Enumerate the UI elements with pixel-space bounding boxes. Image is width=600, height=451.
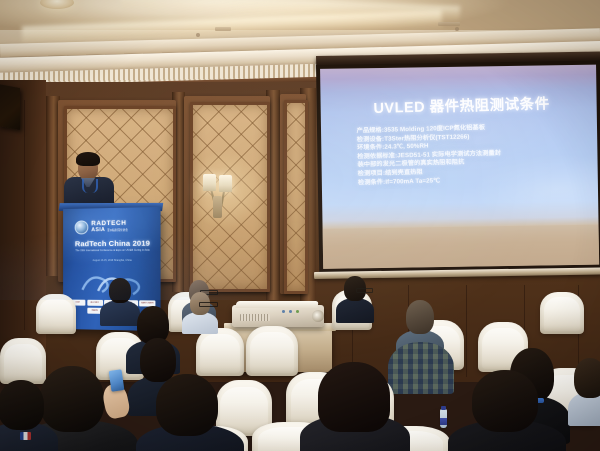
- sprinkler-icon: [455, 27, 459, 31]
- person-head: [0, 380, 44, 430]
- audience-person: [182, 292, 218, 332]
- audience-person-foreground: [448, 370, 566, 451]
- person-head: [156, 374, 218, 436]
- audience-person: [0, 380, 58, 451]
- person-shoulders: [336, 298, 374, 323]
- pa-speaker-icon: [0, 84, 20, 130]
- chair-inner: [39, 299, 73, 332]
- presenter-hair: [76, 152, 100, 166]
- water-bottle: [440, 409, 447, 428]
- person-head: [574, 358, 600, 398]
- screen-surface: UVLED 器件热阻测试条件 产品规格:3535 Molding 120度ICP…: [320, 65, 599, 269]
- quilted-fabric-panel: [190, 102, 270, 292]
- bottle-cap: [441, 406, 446, 410]
- sunglasses-icon: [199, 302, 218, 307]
- audience-person-foreground: [136, 374, 244, 451]
- logo-asia-suffix: 亚洲辐射固化协会: [107, 229, 128, 232]
- person-head: [472, 370, 538, 432]
- chair: [196, 328, 244, 376]
- projection-screen: UVLED 器件热阻测试条件 产品规格:3535 Molding 120度ICP…: [316, 56, 600, 284]
- audience-person-foreground: [300, 362, 410, 451]
- person-long-hair: [318, 362, 390, 432]
- radtech-logo: RADTECH ASIA 亚洲辐射固化协会: [75, 219, 151, 234]
- ceiling-vent-icon: [438, 22, 460, 26]
- chair: [36, 294, 76, 334]
- chair-inner: [200, 334, 240, 373]
- event-subtitle: The 19th International Conference & Expo…: [71, 249, 155, 253]
- conference-room-photo: UVLED 器件热阻测试条件 产品规格:3535 Molding 120度ICP…: [0, 0, 600, 451]
- chair-inner: [250, 332, 294, 373]
- sconce-backplate: [213, 196, 222, 218]
- chair-inner: [544, 297, 581, 331]
- sconce-shade-icon: [219, 175, 232, 192]
- logo-asia-row: ASIA 亚洲辐射固化协会: [91, 227, 128, 233]
- glasses-icon: [356, 288, 373, 293]
- logo-asia-text: ASIA: [91, 228, 105, 234]
- event-title: RadTech China 2019: [71, 239, 155, 249]
- smartphone-icon[interactable]: [109, 369, 125, 392]
- chair: [540, 292, 584, 334]
- slide-body: 产品规格:3535 Molding 120度ICP氮化铝基板 检测设备:T3St…: [357, 122, 578, 188]
- chair: [246, 326, 298, 376]
- slide-content: UVLED 器件热阻测试条件 产品规格:3535 Molding 120度ICP…: [320, 65, 599, 269]
- quilted-fabric-panel: [284, 100, 308, 294]
- sprinkler-icon: [196, 33, 200, 37]
- screen-border: UVLED 器件热阻测试条件 产品规格:3535 Molding 120度ICP…: [316, 61, 600, 277]
- logo-wordmark: RADTECH ASIA 亚洲辐射固化协会: [91, 221, 128, 233]
- presenter-lanyard: [82, 179, 98, 193]
- slide-title: UVLED 器件热阻测试条件: [354, 92, 569, 119]
- person-head: [109, 278, 131, 303]
- sconce-shade-icon: [203, 174, 216, 191]
- bottle-label: [440, 418, 447, 425]
- event-dates: August 13-15, 2019 Shanghai, China: [71, 259, 155, 263]
- audience-person: [568, 358, 600, 424]
- audience-person: [336, 276, 374, 322]
- audience-area: [0, 276, 600, 451]
- flag-badge-icon: [20, 432, 31, 440]
- globe-icon: [75, 220, 89, 234]
- person-shoulders: [182, 312, 218, 334]
- ceiling-vent-icon: [215, 27, 231, 31]
